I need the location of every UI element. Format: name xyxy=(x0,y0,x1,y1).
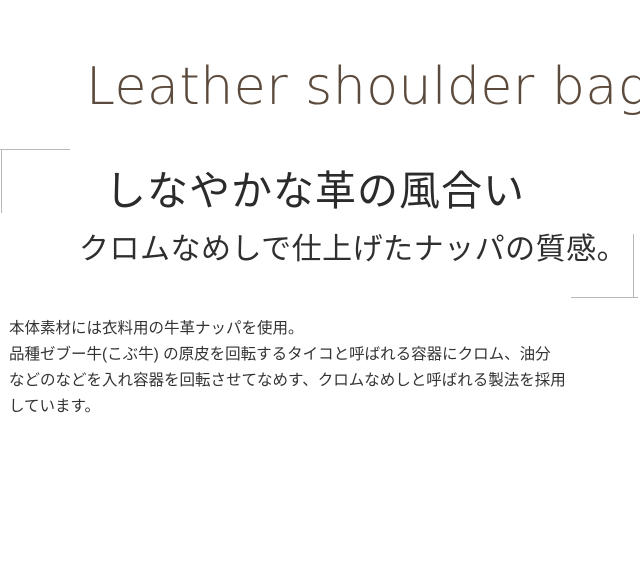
bracket-bottom-right-vertical-line xyxy=(633,234,634,298)
description-line-3: などのなどを入れ容器を回転させてなめす、クロムなめしと呼ばれる製法を採用 xyxy=(9,368,634,394)
product-banner: Leather shoulder bag しなやかな革の風合い クロムなめしで仕… xyxy=(0,0,640,561)
product-headline-japanese: しなやかな革の風合い xyxy=(105,167,525,216)
product-title-english: Leather shoulder bag xyxy=(86,58,566,118)
product-description: 本体素材には衣料用の牛革ナッパを使用。 品種ゼブー牛(こぶ牛) の原皮を回転する… xyxy=(9,316,634,420)
description-line-2: 品種ゼブー牛(こぶ牛) の原皮を回転するタイコと呼ばれる容器にクロム、油分 xyxy=(9,342,634,368)
bracket-top-left-vertical-line xyxy=(1,149,2,213)
bracket-top-left-horizontal-line xyxy=(0,149,70,150)
description-line-4: しています。 xyxy=(9,394,634,420)
description-line-1: 本体素材には衣料用の牛革ナッパを使用。 xyxy=(9,316,634,342)
product-subheadline-japanese: クロムなめしで仕上げたナッパの質感。 xyxy=(79,232,627,268)
bracket-bottom-right-horizontal-line xyxy=(571,297,638,298)
